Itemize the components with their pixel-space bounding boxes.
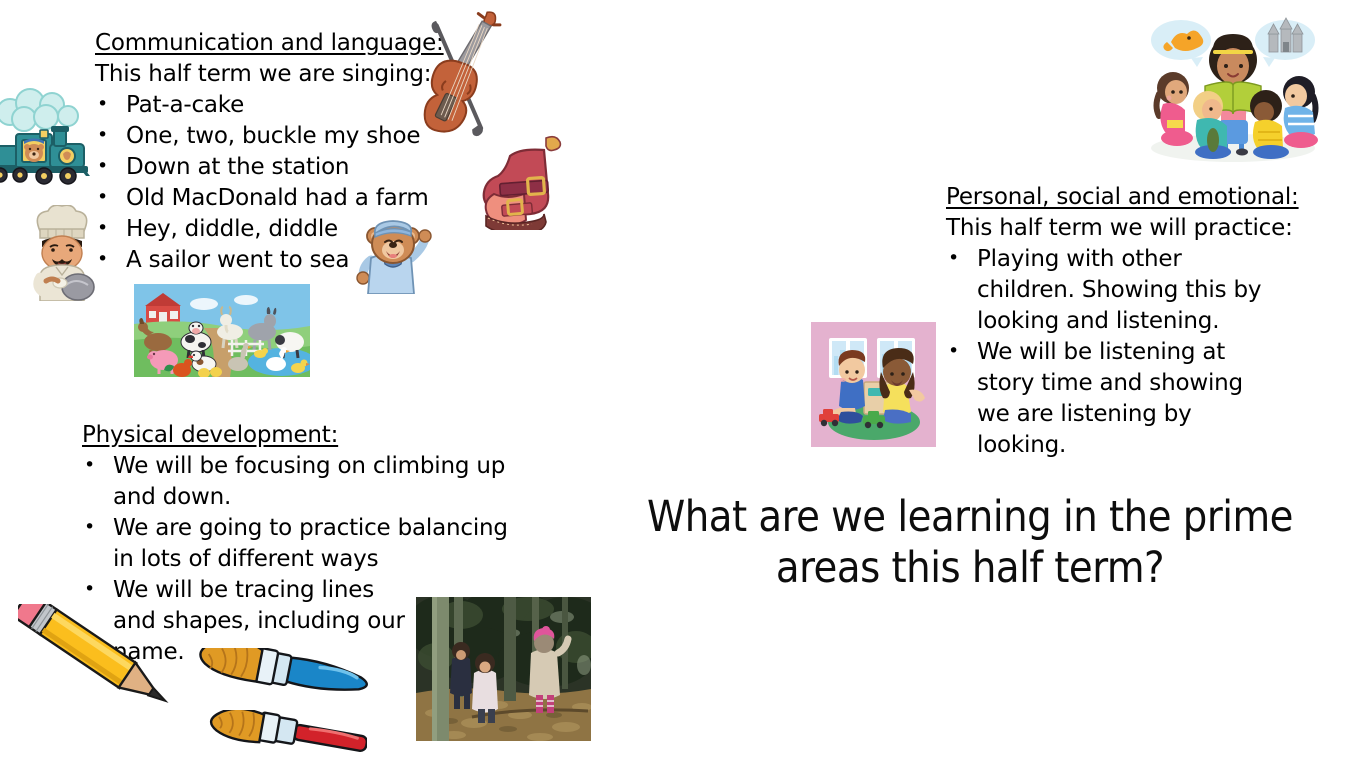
list-item: We will be listening at story time and s…	[946, 337, 1269, 461]
pse-heading: Personal, social and emotional:	[946, 182, 1276, 213]
sailor-bear-clipart	[353, 220, 433, 294]
child-figure	[1283, 76, 1318, 148]
list-item: Pat-a-cake	[95, 90, 435, 121]
page-title: What are we learning in the prime areas …	[600, 492, 1340, 594]
children-playing-icon	[811, 322, 936, 447]
children-playing-photo	[811, 322, 936, 447]
steam-train-clipart	[0, 86, 98, 190]
farm-scene-icon	[134, 284, 310, 377]
bakers-man-clipart	[26, 205, 98, 301]
communication-intro: This half term we are singing:	[95, 59, 435, 90]
paintbrush-red-icon	[197, 710, 367, 758]
list-item: We are going to practice balancing in lo…	[82, 513, 523, 575]
woodland-photo	[416, 597, 591, 741]
communication-heading: Communication and language:	[95, 28, 435, 59]
red-paintbrush-clipart	[197, 710, 367, 758]
blue-paintbrush-clipart	[188, 648, 373, 702]
child-figure	[1157, 72, 1194, 146]
train-icon	[0, 86, 98, 190]
storytime-clipart	[1133, 8, 1333, 168]
list-item: Down at the station	[95, 152, 435, 183]
pencil-clipart	[18, 604, 183, 712]
buckled-boot-clipart	[480, 130, 580, 230]
pencil-icon	[18, 604, 183, 712]
list-item: Playing with other children. Showing thi…	[946, 244, 1269, 337]
physical-heading: Physical development:	[82, 420, 502, 451]
list-item: We will be focusing on climbing up and d…	[82, 451, 513, 513]
pse-list: Playing with other children. Showing thi…	[946, 244, 1276, 461]
baker-icon	[26, 205, 98, 301]
storytime-icon	[1133, 8, 1333, 168]
slide-canvas: Communication and language: This half te…	[0, 0, 1365, 763]
farm-animals-picture	[134, 284, 310, 377]
woodland-icon	[416, 597, 591, 741]
personal-social-emotional-section: Personal, social and emotional: This hal…	[946, 182, 1276, 461]
bear-icon	[353, 220, 433, 294]
boot-icon	[480, 130, 580, 230]
list-item: Old MacDonald had a farm	[95, 183, 435, 214]
child-figure	[1250, 90, 1289, 159]
pse-intro: This half term we will practice:	[946, 213, 1276, 244]
list-item: One, two, buckle my shoe	[95, 121, 435, 152]
paintbrush-blue-icon	[188, 648, 373, 702]
